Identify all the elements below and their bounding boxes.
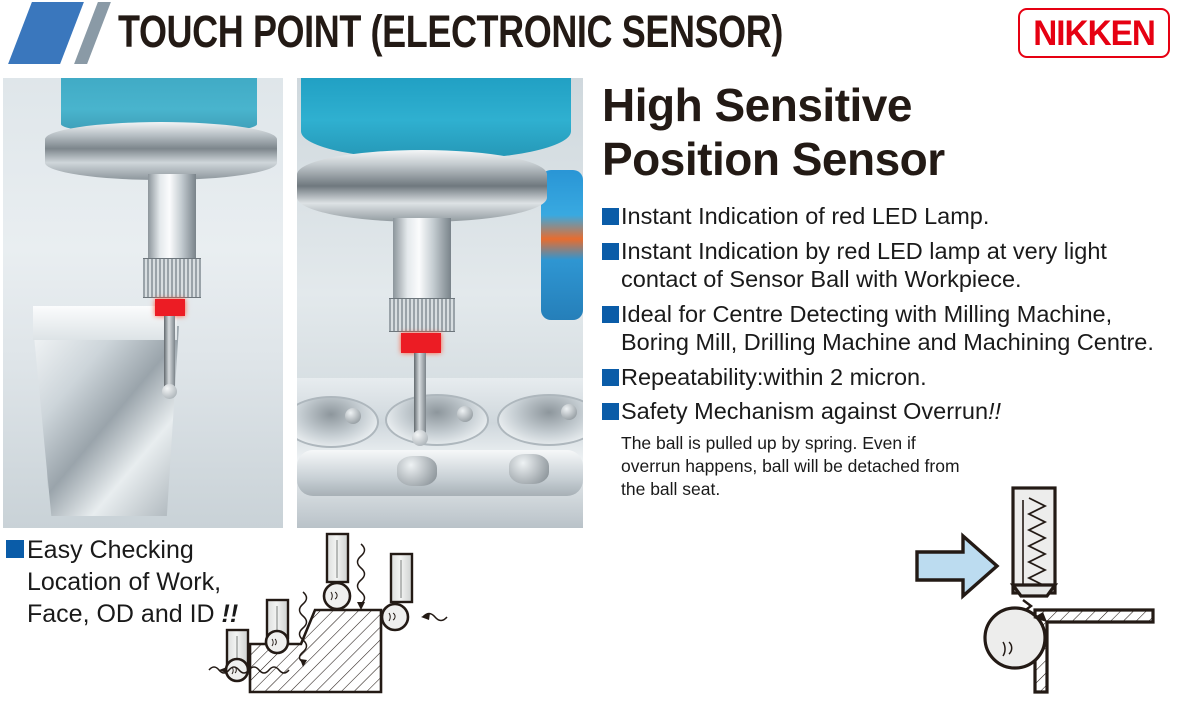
signal-wave-3 bbox=[358, 544, 365, 604]
photo-probe-on-shiny-workpiece bbox=[3, 78, 283, 528]
red-led-indicator bbox=[155, 299, 185, 316]
probe-knurled-body bbox=[389, 298, 455, 332]
brand-slash-mark bbox=[8, 2, 120, 66]
rail-boss-1 bbox=[397, 456, 437, 486]
feature-item-2: Instant Indication by red LED lamp at ve… bbox=[602, 237, 1174, 294]
feature-item-1: Instant Indication of red LED Lamp. bbox=[602, 202, 1174, 231]
workpiece-shiny-block bbox=[27, 326, 179, 516]
probe-3 bbox=[324, 534, 350, 609]
probe-body-with-spring bbox=[1013, 488, 1055, 596]
feature-text-wrap: Safety Mechanism against Overrun!! bbox=[619, 397, 1001, 426]
bullet-square-icon bbox=[602, 243, 619, 260]
spindle-housing bbox=[301, 78, 571, 160]
coolant-hose bbox=[541, 170, 583, 320]
right-content-column: High Sensitive Position Sensor Instant I… bbox=[602, 78, 1174, 501]
stud-2 bbox=[457, 406, 473, 422]
stud-3 bbox=[561, 404, 577, 420]
probe-shank bbox=[148, 174, 196, 260]
probe-stylus bbox=[414, 353, 426, 433]
spindle-chrome-collar bbox=[297, 150, 547, 222]
bullet-square-icon bbox=[6, 540, 24, 558]
page-title: TOUCH POINT (ELECTRONIC SENSOR) bbox=[118, 4, 783, 60]
feature-text: Instant Indication of red LED Lamp. bbox=[619, 202, 989, 231]
slash-blue-icon bbox=[8, 2, 84, 64]
sensor-ball bbox=[162, 384, 177, 399]
probe-shank bbox=[393, 218, 451, 300]
poster-page: TOUCH POINT (ELECTRONIC SENSOR) NIKKEN bbox=[0, 0, 1182, 705]
probe-tip-seat bbox=[1013, 585, 1055, 596]
bullet-square-icon bbox=[602, 369, 619, 386]
bullet-square-icon bbox=[602, 403, 619, 420]
diagram-safety-mechanism bbox=[905, 470, 1175, 705]
direction-arrow-icon bbox=[917, 536, 997, 596]
spindle-chrome-collar bbox=[45, 122, 277, 180]
feature-list: Instant Indication of red LED Lamp. Inst… bbox=[602, 202, 1174, 501]
photo-probe-on-engine-block bbox=[297, 78, 583, 528]
page-header: TOUCH POINT (ELECTRONIC SENSOR) NIKKEN bbox=[0, 0, 1182, 70]
nikken-logo: NIKKEN bbox=[1018, 8, 1170, 58]
probe-4 bbox=[382, 554, 412, 630]
nikken-logo-text: NIKKEN bbox=[1033, 16, 1155, 51]
feature-item-5: Safety Mechanism against Overrun!! bbox=[602, 397, 1174, 426]
sensor-ball bbox=[412, 430, 428, 446]
diagram-easy-checking bbox=[205, 522, 505, 705]
feature-text: Ideal for Centre Detecting with Milling … bbox=[619, 300, 1174, 357]
feature-text: Safety Mechanism against Overrun bbox=[621, 398, 988, 424]
note-line-3: Face, OD and ID bbox=[27, 600, 222, 628]
red-led-indicator bbox=[401, 333, 441, 353]
feature-item-3: Ideal for Centre Detecting with Milling … bbox=[602, 300, 1174, 357]
note-line-1: Easy Checking bbox=[24, 534, 194, 566]
detached-sensor-ball bbox=[985, 608, 1047, 668]
probe-stylus bbox=[164, 316, 175, 388]
probe-2 bbox=[266, 600, 288, 653]
feature-text: Instant Indication by red LED lamp at ve… bbox=[619, 237, 1174, 294]
feature-emphasis: !! bbox=[988, 398, 1001, 424]
rail-boss-2 bbox=[509, 454, 549, 484]
feature-text: Repeatability:within 2 micron. bbox=[619, 363, 927, 392]
heading-line-2: Position Sensor bbox=[602, 132, 1174, 186]
probe-knurled-body bbox=[143, 258, 201, 298]
feature-item-4: Repeatability:within 2 micron. bbox=[602, 363, 1174, 392]
bullet-square-icon bbox=[602, 208, 619, 225]
stud-1 bbox=[345, 408, 361, 424]
workpiece-corner bbox=[1035, 610, 1153, 692]
bore-2 bbox=[385, 394, 489, 446]
bullet-square-icon bbox=[602, 306, 619, 323]
heading-line-1: High Sensitive bbox=[602, 78, 1174, 132]
